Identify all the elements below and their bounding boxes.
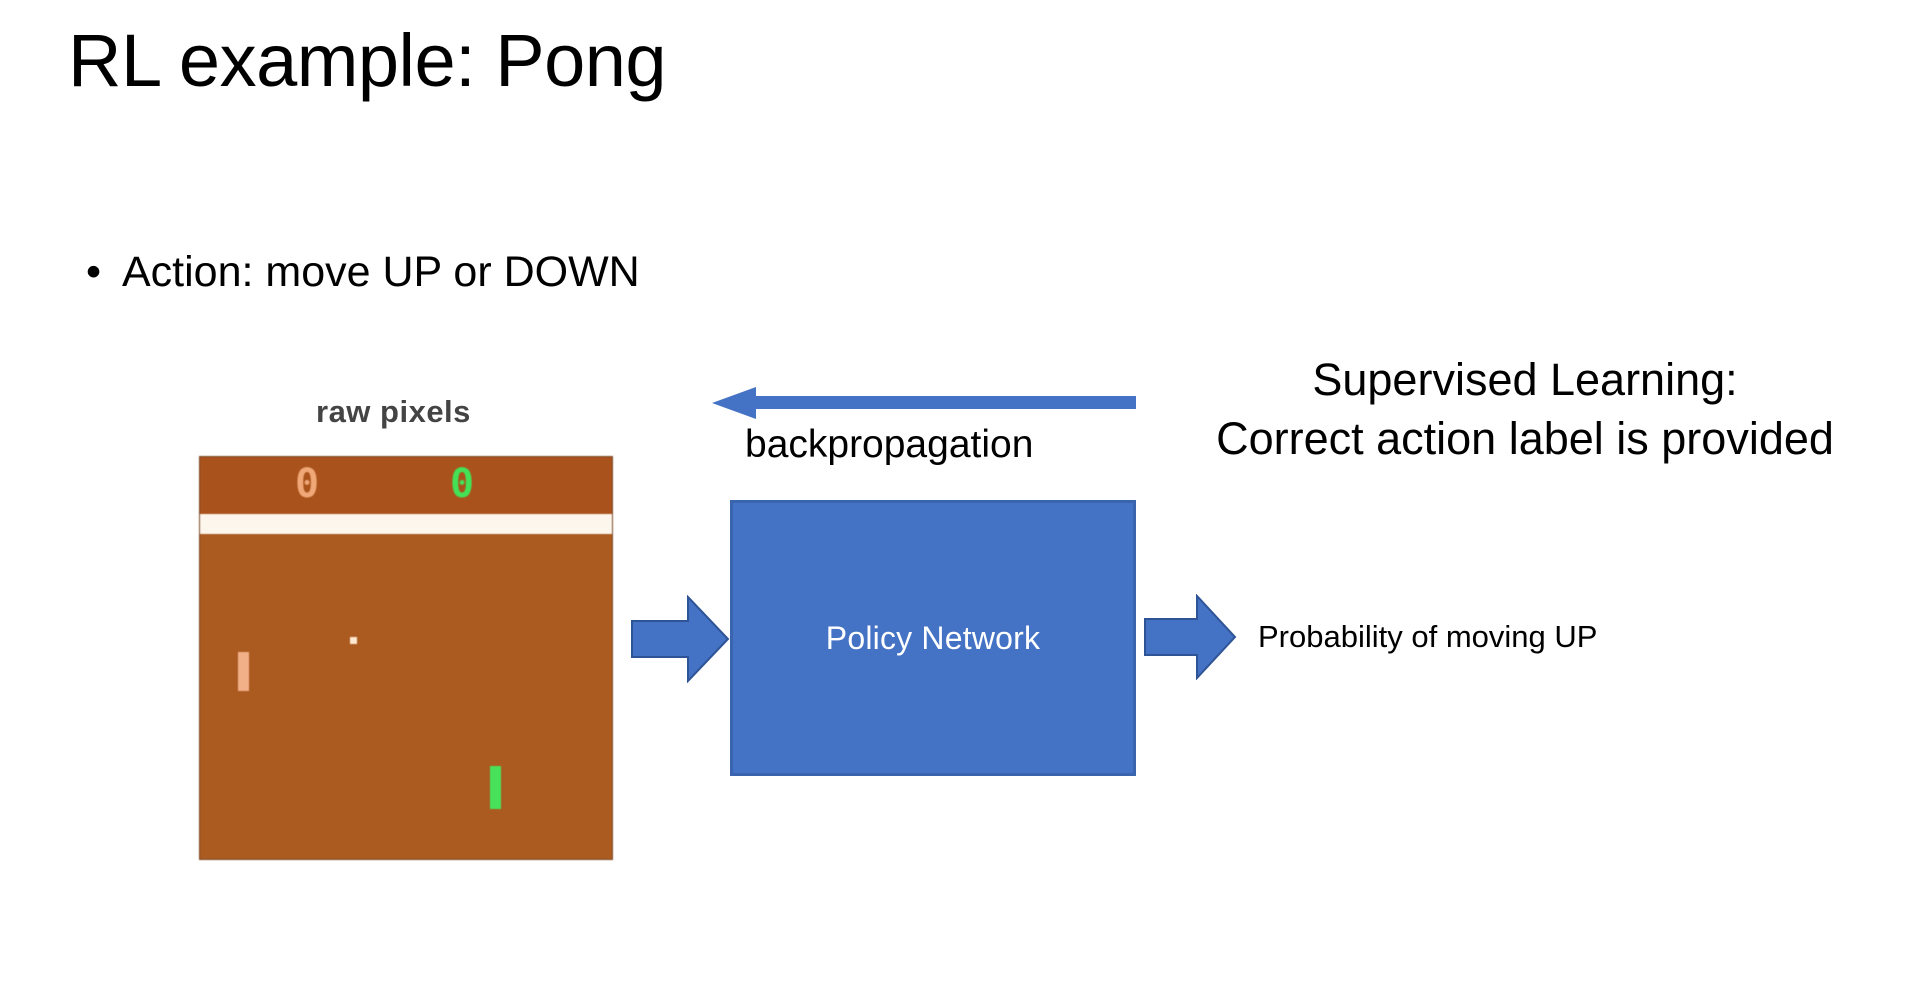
pong-score-band xyxy=(200,457,612,514)
pong-paddle-left xyxy=(238,652,249,691)
bullet-list: • Action: move UP or DOWN xyxy=(82,248,640,297)
supervised-learning-note: Supervised Learning: Correct action labe… xyxy=(1140,350,1910,469)
input-arrow-icon xyxy=(630,595,730,683)
pong-playfield xyxy=(200,534,612,859)
supervised-learning-detail: Correct action label is provided xyxy=(1140,409,1910,468)
page-title: RL example: Pong xyxy=(68,22,666,100)
backprop-arrow-icon xyxy=(712,386,1136,420)
pong-paddle-right xyxy=(490,766,501,809)
list-item: • Action: move UP or DOWN xyxy=(82,248,640,297)
bullet-marker-icon: • xyxy=(86,248,101,297)
output-label: Probability of moving UP xyxy=(1258,619,1597,655)
raw-pixels-caption: raw pixels xyxy=(316,394,471,430)
pong-game-screen: 0 0 xyxy=(200,457,612,859)
policy-network-box[interactable]: Policy Network xyxy=(730,500,1136,776)
bullet-text: Action: move UP or DOWN xyxy=(122,248,640,296)
pong-ball xyxy=(350,637,357,644)
pong-divider-bar xyxy=(200,514,612,534)
output-arrow-icon xyxy=(1143,594,1237,680)
backpropagation-label: backpropagation xyxy=(745,423,1033,467)
pong-score-left: 0 xyxy=(295,464,319,504)
pong-score-right: 0 xyxy=(450,464,474,504)
policy-network-label: Policy Network xyxy=(826,620,1040,657)
supervised-learning-heading: Supervised Learning: xyxy=(1140,350,1910,409)
